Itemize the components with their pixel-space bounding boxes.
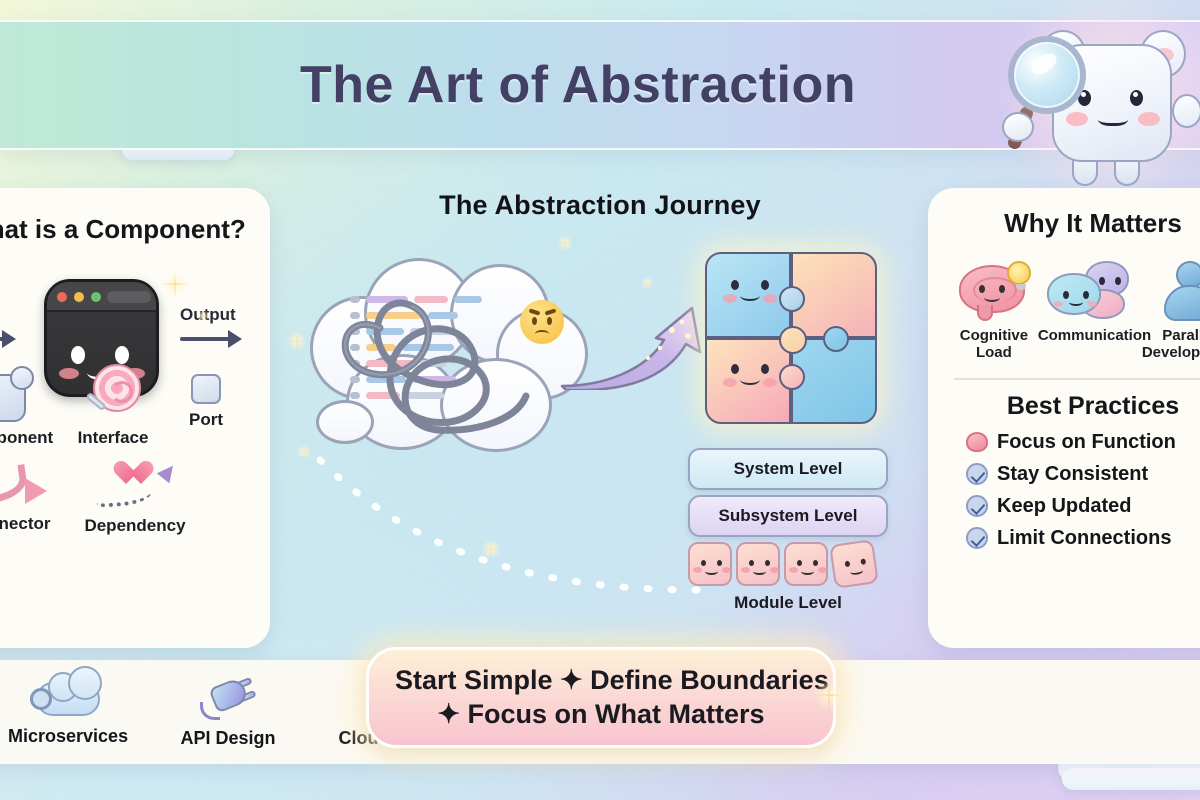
app-microservices[interactable]: Microservices bbox=[8, 674, 124, 749]
cta-line-1: Start Simple ✦ Define Boundaries bbox=[395, 664, 807, 697]
puzzle-face-bottom-left bbox=[723, 364, 777, 398]
output-arrow-line bbox=[180, 337, 230, 341]
component-panel: What is a Component? Input Output bbox=[0, 188, 270, 648]
best-practice-item[interactable]: Limit Connections bbox=[966, 527, 1200, 550]
glossary-item-component[interactable]: Component bbox=[0, 366, 58, 448]
dotted-trail bbox=[300, 440, 720, 640]
output-arrow-head bbox=[228, 330, 242, 348]
best-practices-title: Best Practices bbox=[944, 392, 1200, 421]
input-arrow-head bbox=[2, 330, 16, 348]
sparkle-icon bbox=[640, 276, 654, 290]
best-practice-label: Focus on Function bbox=[997, 431, 1176, 454]
best-practices-list: Focus on Function Stay Consistent Keep U… bbox=[944, 431, 1200, 550]
mascot-robot-with-magnifier-icon bbox=[1000, 8, 1200, 193]
glossary-label: Component bbox=[0, 428, 58, 448]
page-title: The Art of Abstraction bbox=[300, 55, 856, 115]
module-block bbox=[688, 542, 732, 586]
speech-bubbles-icon bbox=[1045, 261, 1135, 321]
glossary-label: Connector bbox=[0, 514, 66, 534]
glossary-label: Port bbox=[168, 410, 244, 430]
brain-icon bbox=[966, 432, 988, 452]
app-label: API Design bbox=[170, 728, 286, 749]
abstraction-levels: System Level Subsystem Level Module Leve… bbox=[688, 448, 888, 613]
reason-cognitive-load[interactable]: Cognitive Load bbox=[950, 261, 1038, 362]
square-port-icon bbox=[191, 374, 221, 404]
cloud-gear-icon bbox=[30, 674, 102, 722]
best-practice-label: Limit Connections bbox=[997, 527, 1171, 550]
reasons-row: Cognitive Load Communication Parallel De… bbox=[944, 261, 1200, 362]
four-piece-puzzle-icon bbox=[705, 252, 877, 424]
plug-icon bbox=[196, 674, 260, 724]
reason-label: Parallel Development bbox=[1142, 327, 1200, 362]
glossary-item-connector[interactable]: Connector bbox=[0, 462, 66, 534]
panel-divider bbox=[954, 378, 1200, 380]
puzzle-block-icon bbox=[0, 366, 34, 422]
check-circle-icon bbox=[966, 495, 988, 517]
best-practice-item[interactable]: Focus on Function bbox=[966, 431, 1200, 454]
module-blocks bbox=[688, 542, 888, 586]
level-subsystem[interactable]: Subsystem Level bbox=[688, 495, 888, 537]
level-module: Module Level bbox=[688, 593, 888, 613]
cta-line-2: ✦ Focus on What Matters bbox=[395, 698, 807, 731]
module-block bbox=[829, 539, 879, 589]
app-label: Microservices bbox=[8, 726, 124, 747]
check-circle-icon bbox=[966, 527, 988, 549]
best-practice-item[interactable]: Stay Consistent bbox=[966, 463, 1200, 486]
tangled-wire bbox=[320, 270, 590, 450]
best-practice-label: Stay Consistent bbox=[997, 463, 1148, 486]
glossary-item-interface[interactable]: Interface bbox=[58, 364, 168, 448]
person-icon bbox=[1154, 261, 1200, 321]
why-it-matters-panel: Why It Matters Cognitive Load Communicat… bbox=[928, 188, 1200, 648]
reason-communication[interactable]: Communication bbox=[1038, 261, 1142, 362]
glossary-label: Interface bbox=[58, 428, 168, 448]
puzzle-face-top-left bbox=[723, 280, 777, 314]
output-label: Output bbox=[180, 305, 236, 325]
check-circle-icon bbox=[966, 463, 988, 485]
reason-label: Cognitive Load bbox=[950, 327, 1038, 362]
worried-face-icon bbox=[520, 300, 564, 344]
glossary-item-port[interactable]: Port bbox=[168, 374, 244, 430]
heart-dotted-arrow-icon bbox=[92, 462, 178, 510]
sparkle-icon bbox=[160, 269, 190, 299]
glossary-item-dependency[interactable]: Dependency bbox=[70, 462, 200, 536]
lollipop-icon bbox=[83, 364, 143, 422]
curved-arrow-icon bbox=[0, 462, 51, 508]
best-practice-label: Keep Updated bbox=[997, 495, 1131, 518]
infographic-canvas: The Art of Abstraction What is a Compone… bbox=[0, 0, 1200, 800]
module-block bbox=[736, 542, 780, 586]
sparkle-icon bbox=[286, 330, 308, 352]
glossary-label: Dependency bbox=[70, 516, 200, 536]
reason-label: Communication bbox=[1038, 327, 1142, 344]
right-panel-title: Why It Matters bbox=[944, 208, 1200, 239]
best-practice-item[interactable]: Keep Updated bbox=[966, 495, 1200, 518]
app-api-design[interactable]: API Design bbox=[170, 674, 286, 749]
level-system[interactable]: System Level bbox=[688, 448, 888, 490]
brain-lightbulb-icon bbox=[955, 261, 1033, 321]
cta-banner: Start Simple ✦ Define Boundaries ✦ Focus… bbox=[366, 647, 836, 748]
magic-gradient-arrow-icon bbox=[560, 300, 710, 390]
reason-parallel-development[interactable]: Parallel Development bbox=[1142, 261, 1200, 362]
tangled-code-cloud-icon bbox=[310, 250, 600, 460]
module-block bbox=[784, 542, 828, 586]
